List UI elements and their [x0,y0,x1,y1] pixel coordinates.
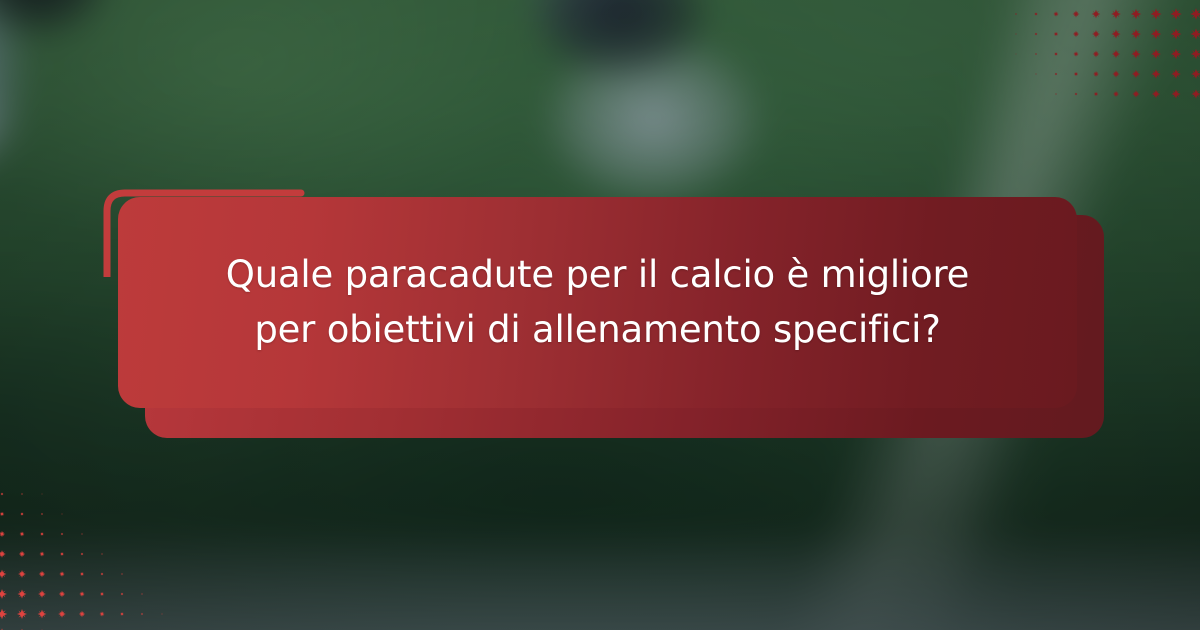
share-card-canvas: Quale paracadute per il calcio è miglior… [0,0,1200,630]
headline-container: Quale paracadute per il calcio è miglior… [118,197,1077,408]
page-title: Quale paracadute per il calcio è miglior… [218,248,978,358]
